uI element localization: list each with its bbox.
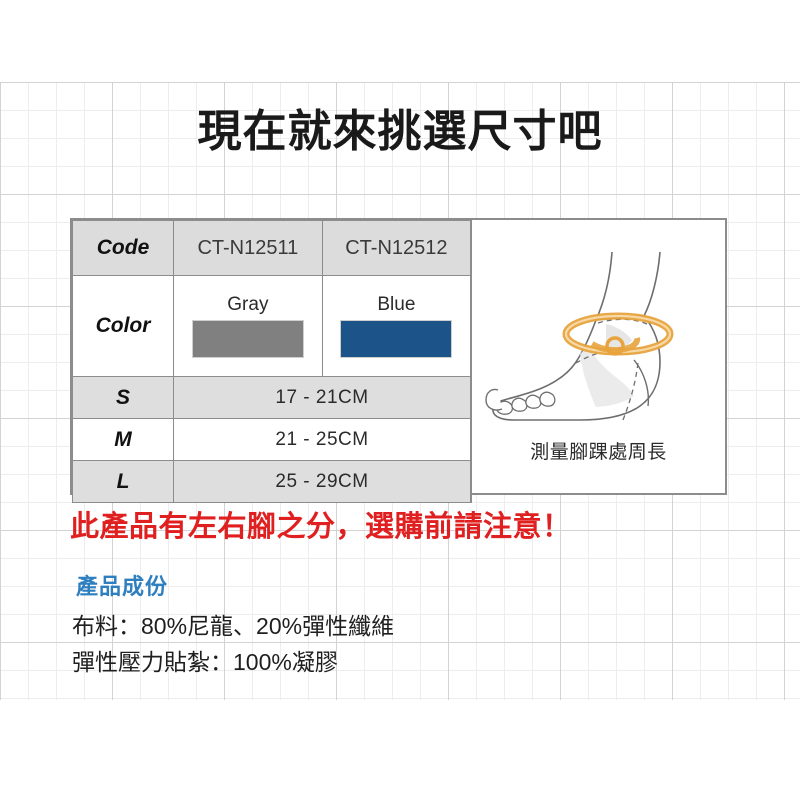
- row-label-code: Code: [73, 221, 174, 276]
- color-swatch-blue: [340, 320, 452, 358]
- cell-range-size-l: 25 - 29CM: [174, 461, 472, 503]
- swatch-label-blue: Blue: [377, 294, 415, 316]
- cell-color-variant-1: Gray: [174, 276, 323, 377]
- swatch-label-gray: Gray: [227, 294, 268, 316]
- table-row-size-l: L 25 - 29CM: [73, 461, 472, 503]
- product-size-infographic: 現在就來挑選尺寸吧 Code CT-N12511 CT-N12512 Color…: [0, 0, 800, 800]
- illustration-caption: 測量腳踝處周長: [530, 437, 667, 464]
- cell-range-size-m: 21 - 25CM: [174, 419, 472, 461]
- size-chart-panel: Code CT-N12511 CT-N12512 Color Gray: [70, 218, 727, 495]
- table-row-code: Code CT-N12511 CT-N12512: [73, 221, 472, 276]
- ankle-measurement-illustration: 測量腳踝處周長: [472, 220, 725, 493]
- foot-with-measuring-tape-icon: [484, 250, 714, 435]
- row-label-size-m: M: [73, 419, 174, 461]
- cell-range-size-s: 17 - 21CM: [174, 377, 472, 419]
- cell-code-variant-2: CT-N12512: [322, 221, 471, 276]
- row-label-size-l: L: [73, 461, 174, 503]
- table-row-size-m: M 21 - 25CM: [73, 419, 472, 461]
- cell-code-variant-1: CT-N12511: [174, 221, 323, 276]
- composition-heading: 產品成份: [76, 569, 168, 601]
- cell-color-variant-2: Blue: [322, 276, 471, 377]
- composition-gel-line: 彈性壓力貼紮：100%凝膠: [72, 643, 338, 677]
- row-label-size-s: S: [73, 377, 174, 419]
- table-row-size-s: S 17 - 21CM: [73, 377, 472, 419]
- page-title: 現在就來挑選尺寸吧: [0, 108, 800, 156]
- composition-fabric-line: 布料：80%尼龍、20%彈性纖維: [72, 607, 394, 641]
- row-label-color: Color: [73, 276, 174, 377]
- left-right-warning-text: 此產品有左右腳之分，選購前請注意！: [70, 503, 572, 545]
- table-row-color: Color Gray Blue: [73, 276, 472, 377]
- size-table: Code CT-N12511 CT-N12512 Color Gray: [72, 220, 472, 503]
- color-swatch-gray: [192, 320, 304, 358]
